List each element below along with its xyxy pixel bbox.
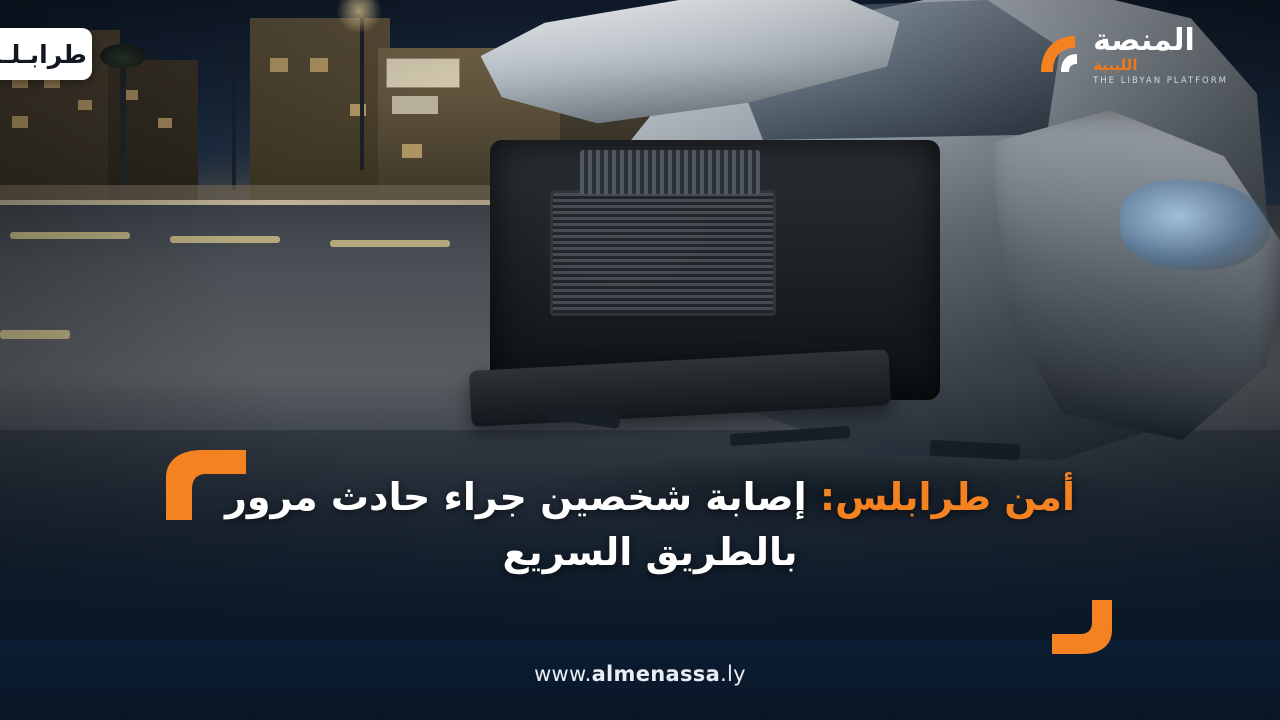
condenser: [580, 150, 760, 194]
url-prefix: www.: [534, 662, 591, 686]
headline-source-prefix: أمن طرابلس:: [820, 475, 1075, 519]
website-url[interactable]: www.almenassa.ly: [0, 662, 1280, 686]
logo-arabic-name: المنصة: [1093, 26, 1195, 56]
logo-arabic-subtitle: الليبية: [1093, 58, 1137, 73]
social-news-card: طرابـلـس المنصة الليبية THE LIBYAN PLATF…: [0, 0, 1280, 720]
url-brand: almenassa: [592, 662, 721, 686]
lane-marking: [0, 330, 70, 339]
url-suffix: .ly: [720, 662, 746, 686]
logo-english-name: THE LIBYAN PLATFORM: [1093, 77, 1228, 86]
radiator: [550, 190, 776, 316]
site-logo[interactable]: المنصة الليبية THE LIBYAN PLATFORM: [1018, 18, 1228, 94]
almenassa-monogram-icon: [1031, 28, 1087, 84]
building: [250, 18, 390, 208]
headline-line-1-rest: إصابة شخصين جراء حادث مرور: [225, 475, 820, 519]
headline-line-2: بالطريق السريع: [120, 525, 1180, 580]
logo-wordmark: المنصة الليبية THE LIBYAN PLATFORM: [1093, 26, 1228, 86]
lane-marking: [10, 232, 130, 239]
lamp-pole: [232, 40, 236, 190]
location-label: طرابـلـس: [0, 40, 87, 69]
location-badge: طرابـلـس: [0, 28, 92, 80]
palm-trunk: [120, 60, 126, 190]
quote-close-icon: [1048, 600, 1118, 656]
headline: أمن طرابلس: إصابة شخصين جراء حادث مرور ب…: [120, 470, 1180, 580]
palm-crown: [100, 44, 146, 68]
lane-marking: [170, 236, 280, 243]
headline-line-1: أمن طرابلس: إصابة شخصين جراء حادث مرور: [120, 470, 1180, 525]
